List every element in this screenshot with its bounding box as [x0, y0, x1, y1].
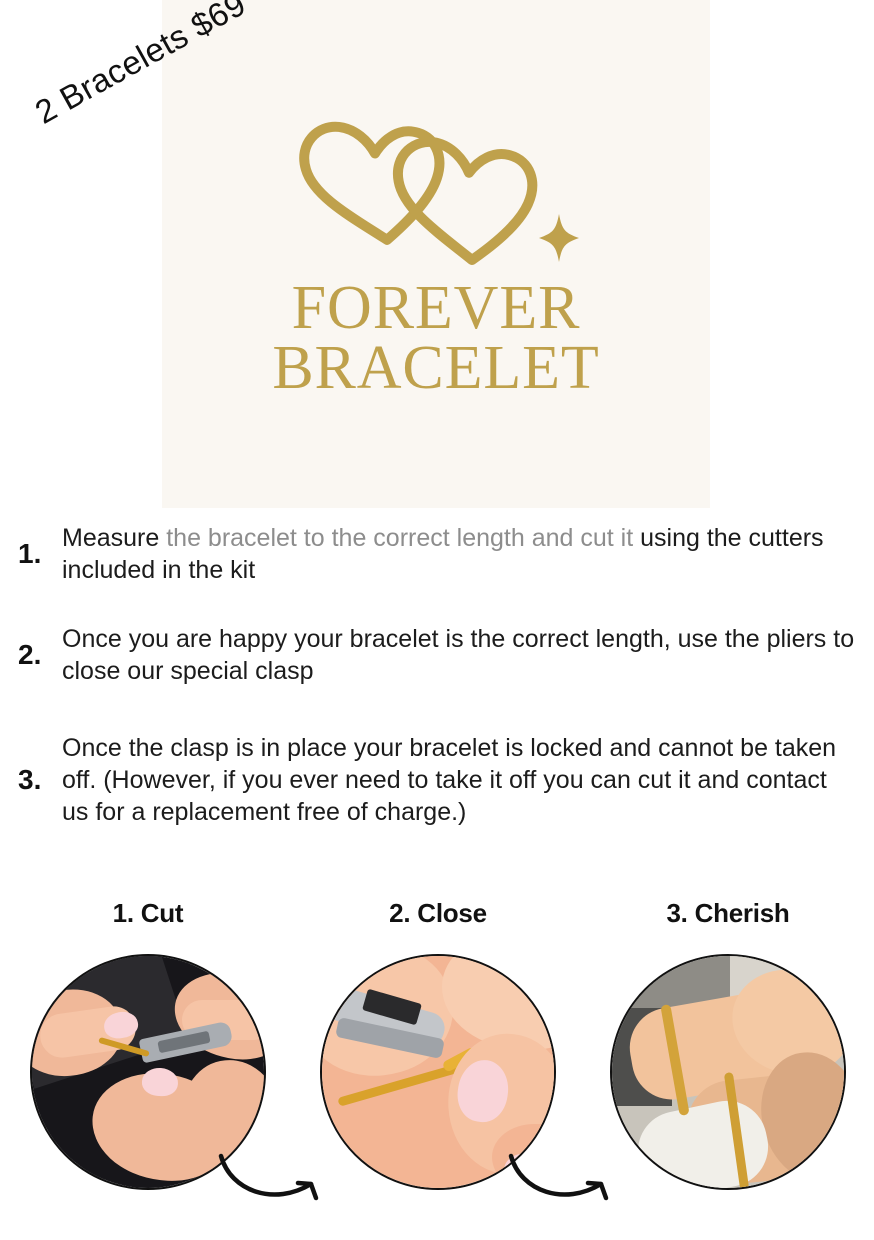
gallery-item-cherish: 3. Cherish [598, 890, 858, 1190]
step-text: Once the clasp is in place your bracelet… [62, 732, 860, 828]
gallery-caption: 3. Cherish [598, 890, 858, 936]
list-item: 3. Once the clasp is in place your brace… [0, 710, 874, 850]
list-item: 2. Once you are happy your bracelet is t… [0, 600, 874, 710]
steps-gallery: 1. Cut 2. Close [0, 890, 874, 1240]
logo-wordmark: FOREVER BRACELET [162, 278, 710, 398]
step-number: 1. [18, 540, 62, 568]
photo-cherish [610, 954, 846, 1190]
instructions-list: 1. Measure the bracelet to the correct l… [0, 508, 874, 850]
step-text: Measure the bracelet to the correct leng… [62, 522, 860, 586]
gallery-caption: 2. Close [308, 890, 568, 936]
logo-line-forever: FOREVER [162, 278, 710, 338]
step-number: 3. [18, 766, 62, 794]
step-text-lead: Measure [62, 524, 166, 552]
four-point-sparkle-icon [539, 214, 579, 262]
step-number: 2. [18, 641, 62, 669]
list-item: 1. Measure the bracelet to the correct l… [0, 508, 874, 600]
logo-line-bracelet: BRACELET [162, 338, 710, 398]
logo-card: FOREVER BRACELET [162, 0, 710, 508]
step-text: Once you are happy your bracelet is the … [62, 623, 860, 687]
gallery-caption: 1. Cut [18, 890, 278, 936]
step-text-muted: the bracelet to the correct length and c… [166, 524, 633, 552]
interlocking-hearts-icon [291, 108, 581, 273]
